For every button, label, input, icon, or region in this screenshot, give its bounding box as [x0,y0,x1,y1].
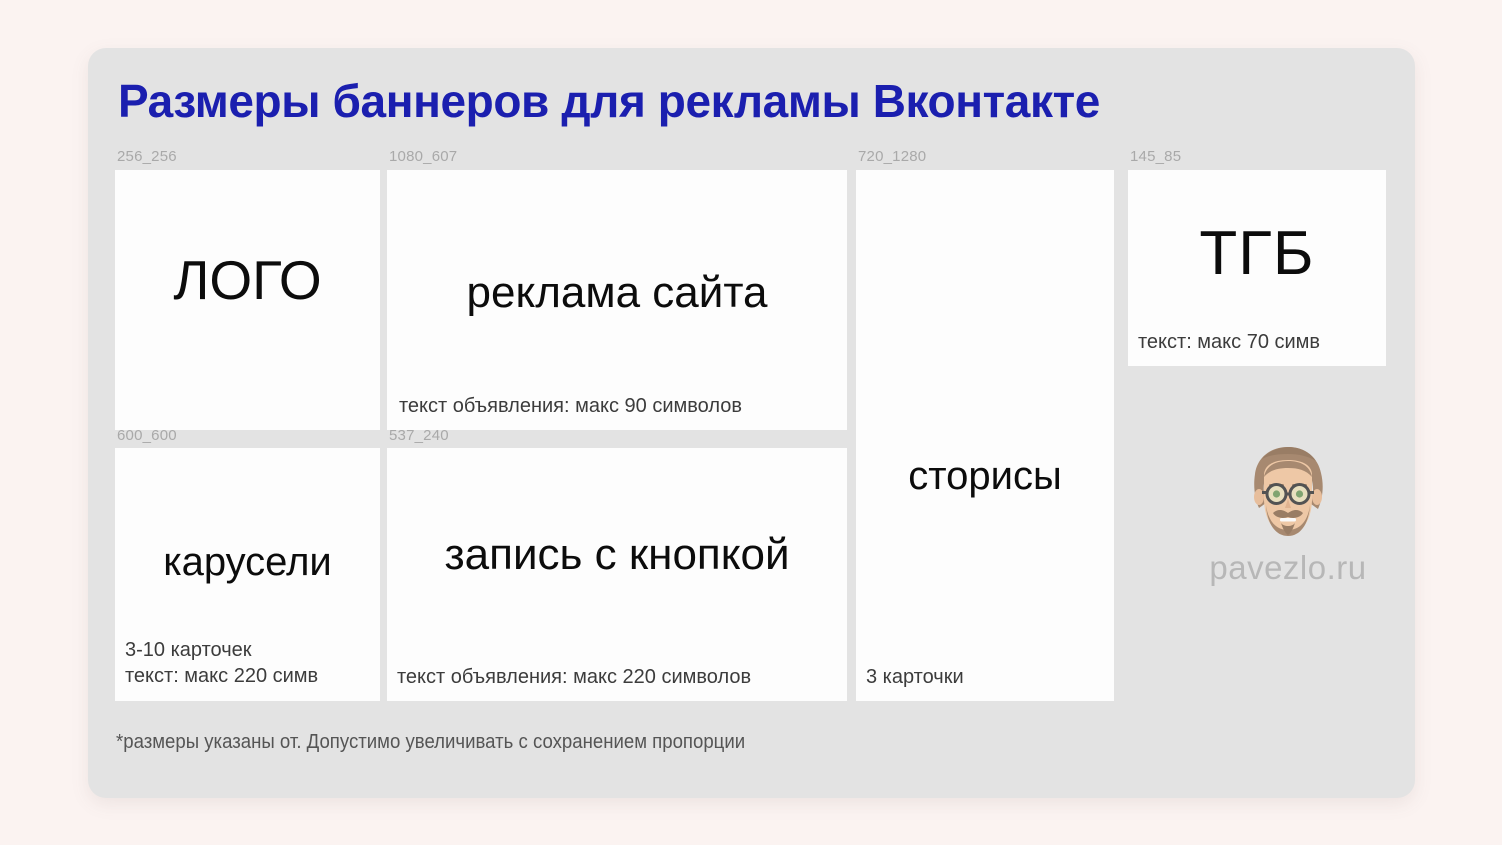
banner-box-tgb: ТГБ текст: макс 70 симв [1128,170,1386,366]
banner-title-stories: сторисы [856,454,1114,499]
banner-note-carousel: 3-10 карточек текст: макс 220 симв [125,637,318,689]
size-label-logo: 256_256 [117,148,177,165]
banner-note-postbtn: текст объявления: макс 220 символов [397,664,751,690]
footer-note: *размеры указаны от. Допустимо увеличива… [116,731,745,754]
banner-box-stories: сторисы 3 карточки [856,170,1114,701]
banner-box-siteads: реклама сайта текст объявления: макс 90 … [387,170,847,430]
banner-title-logo: ЛОГО [115,248,380,312]
size-label-tgb: 145_85 [1130,148,1181,165]
banner-box-logo: ЛОГО [115,170,380,430]
banner-box-carousel: карусели 3-10 карточек текст: макс 220 с… [115,448,380,701]
banner-note-stories: 3 карточки [866,664,964,690]
banner-title-postbtn: запись с кнопкой [387,530,847,580]
page-title: Размеры баннеров для рекламы Вконтакте [118,74,1100,128]
screenshot-root: Размеры баннеров для рекламы Вконтакте 2… [0,0,1502,845]
infographic-card: Размеры баннеров для рекламы Вконтакте 2… [88,48,1415,798]
banner-box-postbtn: запись с кнопкой текст объявления: макс … [387,448,847,701]
banner-note-tgb: текст: макс 70 симв [1138,329,1320,355]
watermark-site-text: pavezlo.ru [1173,549,1403,587]
banner-note-carousel-line1: 3-10 карточек [125,639,252,661]
size-label-stories: 720_1280 [858,148,926,165]
banner-title-tgb: ТГБ [1128,218,1386,289]
avatar-icon [1240,443,1336,547]
watermark: pavezlo.ru [1173,443,1403,587]
banner-title-siteads: реклама сайта [387,268,847,318]
banner-note-siteads: текст объявления: макс 90 символов [399,393,742,419]
banner-title-carousel: карусели [115,540,380,585]
banner-note-carousel-line2: текст: макс 220 симв [125,665,318,687]
size-label-siteads: 1080_607 [389,148,457,165]
